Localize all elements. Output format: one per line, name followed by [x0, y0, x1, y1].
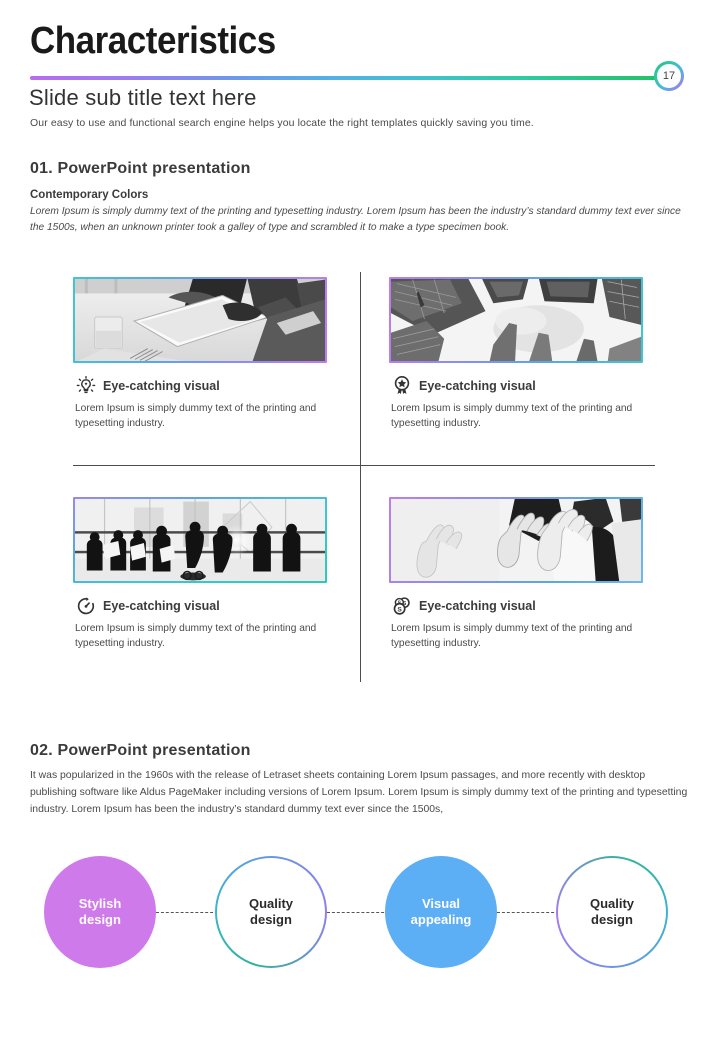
feature-card-4-title: Eye-catching visual [419, 599, 536, 613]
process-step-2-label: Quality design [249, 896, 293, 929]
feature-card-2-image-frame [389, 277, 643, 363]
process-step-1[interactable]: Stylish design [44, 856, 156, 968]
feature-card-2-text: Lorem Ipsum is simply dummy text of the … [391, 401, 641, 432]
connector-3 [497, 912, 559, 913]
section-2-body: It was popularized in the 1960s with the… [30, 768, 692, 819]
feature-card-4-image-frame [389, 497, 643, 583]
feature-card-2-title-row: Eye-catching visual [391, 375, 647, 397]
process-step-2-inner: Quality design [217, 858, 325, 966]
feature-card-3-title-row: Eye-catching visual [75, 595, 331, 617]
section-2-heading: 02. PowerPoint presentation [30, 742, 251, 760]
feature-card-4-title-row: S S S Eye-catching visual [391, 595, 647, 617]
process-step-4-label: Quality design [590, 896, 634, 929]
process-step-2[interactable]: Quality design [215, 856, 327, 968]
feature-card-1-image-frame [73, 277, 327, 363]
skyscrapers-photo [391, 279, 641, 361]
stopwatch-icon [75, 595, 97, 617]
process-step-3-label: Visual appealing [411, 896, 472, 929]
process-step-4[interactable]: Quality design [556, 856, 668, 968]
office-silhouettes-photo [75, 499, 325, 581]
feature-card-2-title: Eye-catching visual [419, 379, 536, 393]
award-badge-icon [391, 375, 413, 397]
process-step-4-inner: Quality design [558, 858, 666, 966]
feature-card-4-text: Lorem Ipsum is simply dummy text of the … [391, 621, 641, 652]
feature-card-1-text: Lorem Ipsum is simply dummy text of the … [75, 401, 325, 432]
feature-card-3-text: Lorem Ipsum is simply dummy text of the … [75, 621, 325, 652]
applause-photo [391, 499, 641, 581]
feature-card-1-title-row: Eye-catching visual [75, 375, 331, 397]
connector-1 [156, 912, 218, 913]
process-steps-row: Stylish design Quality design Visual app… [0, 856, 720, 976]
process-step-3[interactable]: Visual appealing [385, 856, 497, 968]
lightbulb-icon [75, 375, 97, 397]
feature-card-4[interactable]: S S S Eye-catching visual Lorem Ipsum is… [389, 497, 647, 652]
feature-card-1-title: Eye-catching visual [103, 379, 220, 393]
feature-card-3-title: Eye-catching visual [103, 599, 220, 613]
connector-2 [327, 912, 389, 913]
coins-icon: S S S [391, 595, 413, 617]
slide-root: Characteristics 17 Slide sub title text … [0, 0, 720, 1040]
feature-card-3-image-frame [73, 497, 327, 583]
feature-card-2[interactable]: Eye-catching visual Lorem Ipsum is simpl… [389, 277, 647, 432]
tablet-meeting-photo [75, 279, 325, 361]
grid-vertical-divider [360, 272, 361, 682]
feature-card-3[interactable]: Eye-catching visual Lorem Ipsum is simpl… [73, 497, 331, 652]
process-step-1-label: Stylish design [79, 896, 122, 929]
feature-card-1[interactable]: Eye-catching visual Lorem Ipsum is simpl… [73, 277, 331, 432]
grid-horizontal-divider [73, 465, 655, 466]
svg-text:S: S [397, 607, 402, 614]
